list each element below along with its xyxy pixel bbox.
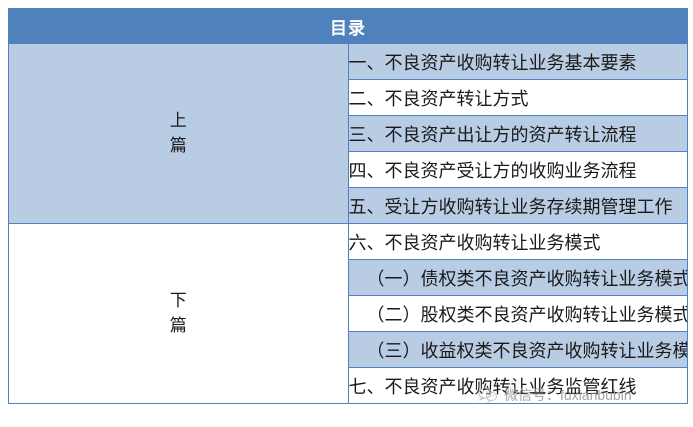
section-label-char: 篇 bbox=[9, 134, 348, 159]
toc-entry[interactable]: 一、不良资产收购转让业务基本要素 bbox=[348, 44, 688, 80]
table-row: 上 篇 一、不良资产收购转让业务基本要素 bbox=[9, 44, 688, 80]
toc-entry[interactable]: 六、不良资产收购转让业务模式 bbox=[348, 224, 688, 260]
toc-table-body: 目录 上 篇 一、不良资产收购转让业务基本要素 二、不良资产转让方式 三、不良资… bbox=[9, 9, 688, 404]
section-label-char: 篇 bbox=[9, 314, 348, 339]
toc-entry[interactable]: 三、不良资产出让方的资产转让流程 bbox=[348, 116, 688, 152]
watermark: 微信号：fuxianbubin bbox=[478, 385, 632, 405]
section-label-upper: 上 篇 bbox=[9, 44, 349, 224]
toc-entry[interactable]: 二、不良资产转让方式 bbox=[348, 80, 688, 116]
table-row: 下 篇 六、不良资产收购转让业务模式 bbox=[9, 224, 688, 260]
toc-entry[interactable]: （二）股权类不良资产收购转让业务模式 bbox=[348, 296, 688, 332]
toc-entry[interactable]: 四、不良资产受让方的收购业务流程 bbox=[348, 152, 688, 188]
toc-entry[interactable]: 五、受让方收购转让业务存续期管理工作 bbox=[348, 188, 688, 224]
wechat-icon bbox=[478, 387, 498, 403]
page-title: 目录 bbox=[9, 9, 688, 44]
toc-entry[interactable]: （一）债权类不良资产收购转让业务模式 bbox=[348, 260, 688, 296]
section-label-char: 上 bbox=[9, 109, 348, 134]
toc-table: 目录 上 篇 一、不良资产收购转让业务基本要素 二、不良资产转让方式 三、不良资… bbox=[8, 8, 688, 404]
table-of-contents: 目录 上 篇 一、不良资产收购转让业务基本要素 二、不良资产转让方式 三、不良资… bbox=[8, 8, 688, 404]
watermark-text: 微信号：fuxianbubin bbox=[504, 385, 632, 405]
section-label-lower: 下 篇 bbox=[9, 224, 349, 404]
section-label-char: 下 bbox=[9, 289, 348, 314]
toc-header-row: 目录 bbox=[9, 9, 688, 44]
toc-entry[interactable]: （三）收益权类不良资产收购转让业务模式 bbox=[348, 332, 688, 368]
